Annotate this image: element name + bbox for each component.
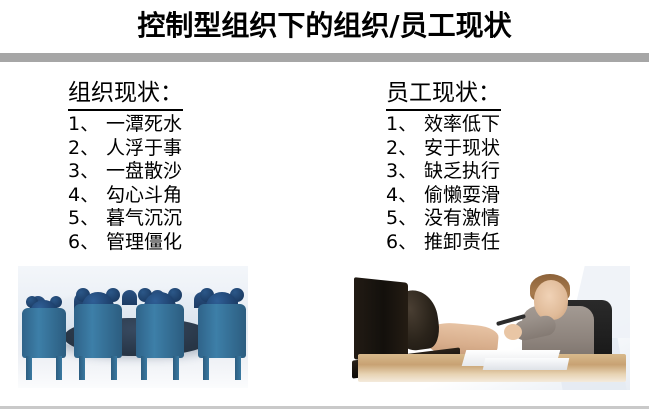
organization-status-column: 组织现状： 1、一潭死水 2、人浮于事 3、一盘散沙 4、勾心斗角 5、暮气沉沉… bbox=[68, 78, 183, 254]
list-item-number: 6、 bbox=[386, 231, 424, 255]
list-item-label: 偷懒耍滑 bbox=[424, 184, 500, 206]
chair-leg bbox=[203, 356, 209, 380]
list-item: 1、一潭死水 bbox=[68, 113, 183, 137]
list-item-label: 一潭死水 bbox=[106, 113, 182, 135]
list-item-label: 一盘散沙 bbox=[106, 160, 182, 182]
chair-leg bbox=[141, 356, 147, 380]
list-item-label: 管理僵化 bbox=[106, 231, 182, 253]
list-item-number: 5、 bbox=[386, 207, 424, 231]
meeting-table-photo bbox=[18, 266, 248, 388]
chair-figure bbox=[22, 300, 66, 380]
page-title: 控制型组织下的组织/员工现状 bbox=[0, 6, 649, 46]
list-item-label: 安于现状 bbox=[424, 137, 500, 159]
list-item: 3、缺乏执行 bbox=[386, 160, 501, 184]
slide-canvas: 控制型组织下的组织/员工现状 组织现状： 1、一潭死水 2、人浮于事 3、一盘散… bbox=[0, 0, 649, 411]
organization-status-heading: 组织现状： bbox=[68, 78, 183, 111]
woman-hand-shape bbox=[504, 324, 522, 340]
list-item: 6、管理僵化 bbox=[68, 231, 183, 255]
far-figure bbox=[122, 290, 137, 305]
list-item: 3、一盘散沙 bbox=[68, 160, 183, 184]
list-item-number: 4、 bbox=[386, 184, 424, 208]
list-item-number: 1、 bbox=[386, 113, 424, 137]
list-item-label: 人浮于事 bbox=[106, 137, 182, 159]
list-item-label: 缺乏执行 bbox=[424, 160, 500, 182]
woman-head-shape bbox=[534, 280, 568, 320]
list-item-number: 5、 bbox=[68, 207, 106, 231]
bottom-divider bbox=[0, 406, 649, 409]
list-item-number: 6、 bbox=[68, 231, 106, 255]
list-item-number: 2、 bbox=[386, 137, 424, 161]
list-item-label: 没有激情 bbox=[424, 207, 500, 229]
chair-leg bbox=[173, 356, 179, 380]
chair-leg bbox=[111, 356, 117, 380]
laptop-screen-shape bbox=[354, 277, 408, 365]
list-item-label: 效率低下 bbox=[424, 113, 500, 135]
title-divider bbox=[0, 53, 649, 62]
chair-leg bbox=[235, 356, 241, 380]
chair-back bbox=[198, 304, 246, 358]
chair-figure bbox=[198, 296, 246, 380]
employee-status-column: 员工现状： 1、效率低下 2、安于现状 3、缺乏执行 4、偷懒耍滑 5、没有激情… bbox=[386, 78, 501, 254]
list-item: 4、勾心斗角 bbox=[68, 184, 183, 208]
chair-back bbox=[22, 308, 66, 358]
chair-figure bbox=[74, 296, 122, 380]
list-item: 6、推卸责任 bbox=[386, 231, 501, 255]
list-item-number: 4、 bbox=[68, 184, 106, 208]
list-item-number: 2、 bbox=[68, 137, 106, 161]
list-item: 2、人浮于事 bbox=[68, 137, 183, 161]
chair-figure bbox=[136, 296, 184, 380]
chair-leg bbox=[26, 356, 32, 380]
list-item-number: 1、 bbox=[68, 113, 106, 137]
list-item-label: 勾心斗角 bbox=[106, 184, 182, 206]
list-item: 1、效率低下 bbox=[386, 113, 501, 137]
organization-status-list: 1、一潭死水 2、人浮于事 3、一盘散沙 4、勾心斗角 5、暮气沉沉 6、管理僵… bbox=[68, 113, 183, 254]
employee-status-list: 1、效率低下 2、安于现状 3、缺乏执行 4、偷懒耍滑 5、没有激情 6、推卸责… bbox=[386, 113, 501, 254]
list-item-label: 推卸责任 bbox=[424, 231, 500, 253]
employee-status-heading: 员工现状： bbox=[386, 78, 501, 111]
paper-sheet-shape bbox=[483, 358, 570, 370]
list-item: 2、安于现状 bbox=[386, 137, 501, 161]
list-item: 5、没有激情 bbox=[386, 207, 501, 231]
list-item-label: 暮气沉沉 bbox=[106, 207, 182, 229]
chair-back bbox=[136, 304, 184, 358]
list-item: 5、暮气沉沉 bbox=[68, 207, 183, 231]
chair-leg bbox=[56, 356, 62, 380]
list-item-number: 3、 bbox=[68, 160, 106, 184]
list-item-number: 3、 bbox=[386, 160, 424, 184]
chair-back bbox=[74, 304, 122, 358]
feet-on-desk-photo bbox=[352, 266, 630, 390]
chair-leg bbox=[79, 356, 85, 380]
list-item: 4、偷懒耍滑 bbox=[386, 184, 501, 208]
